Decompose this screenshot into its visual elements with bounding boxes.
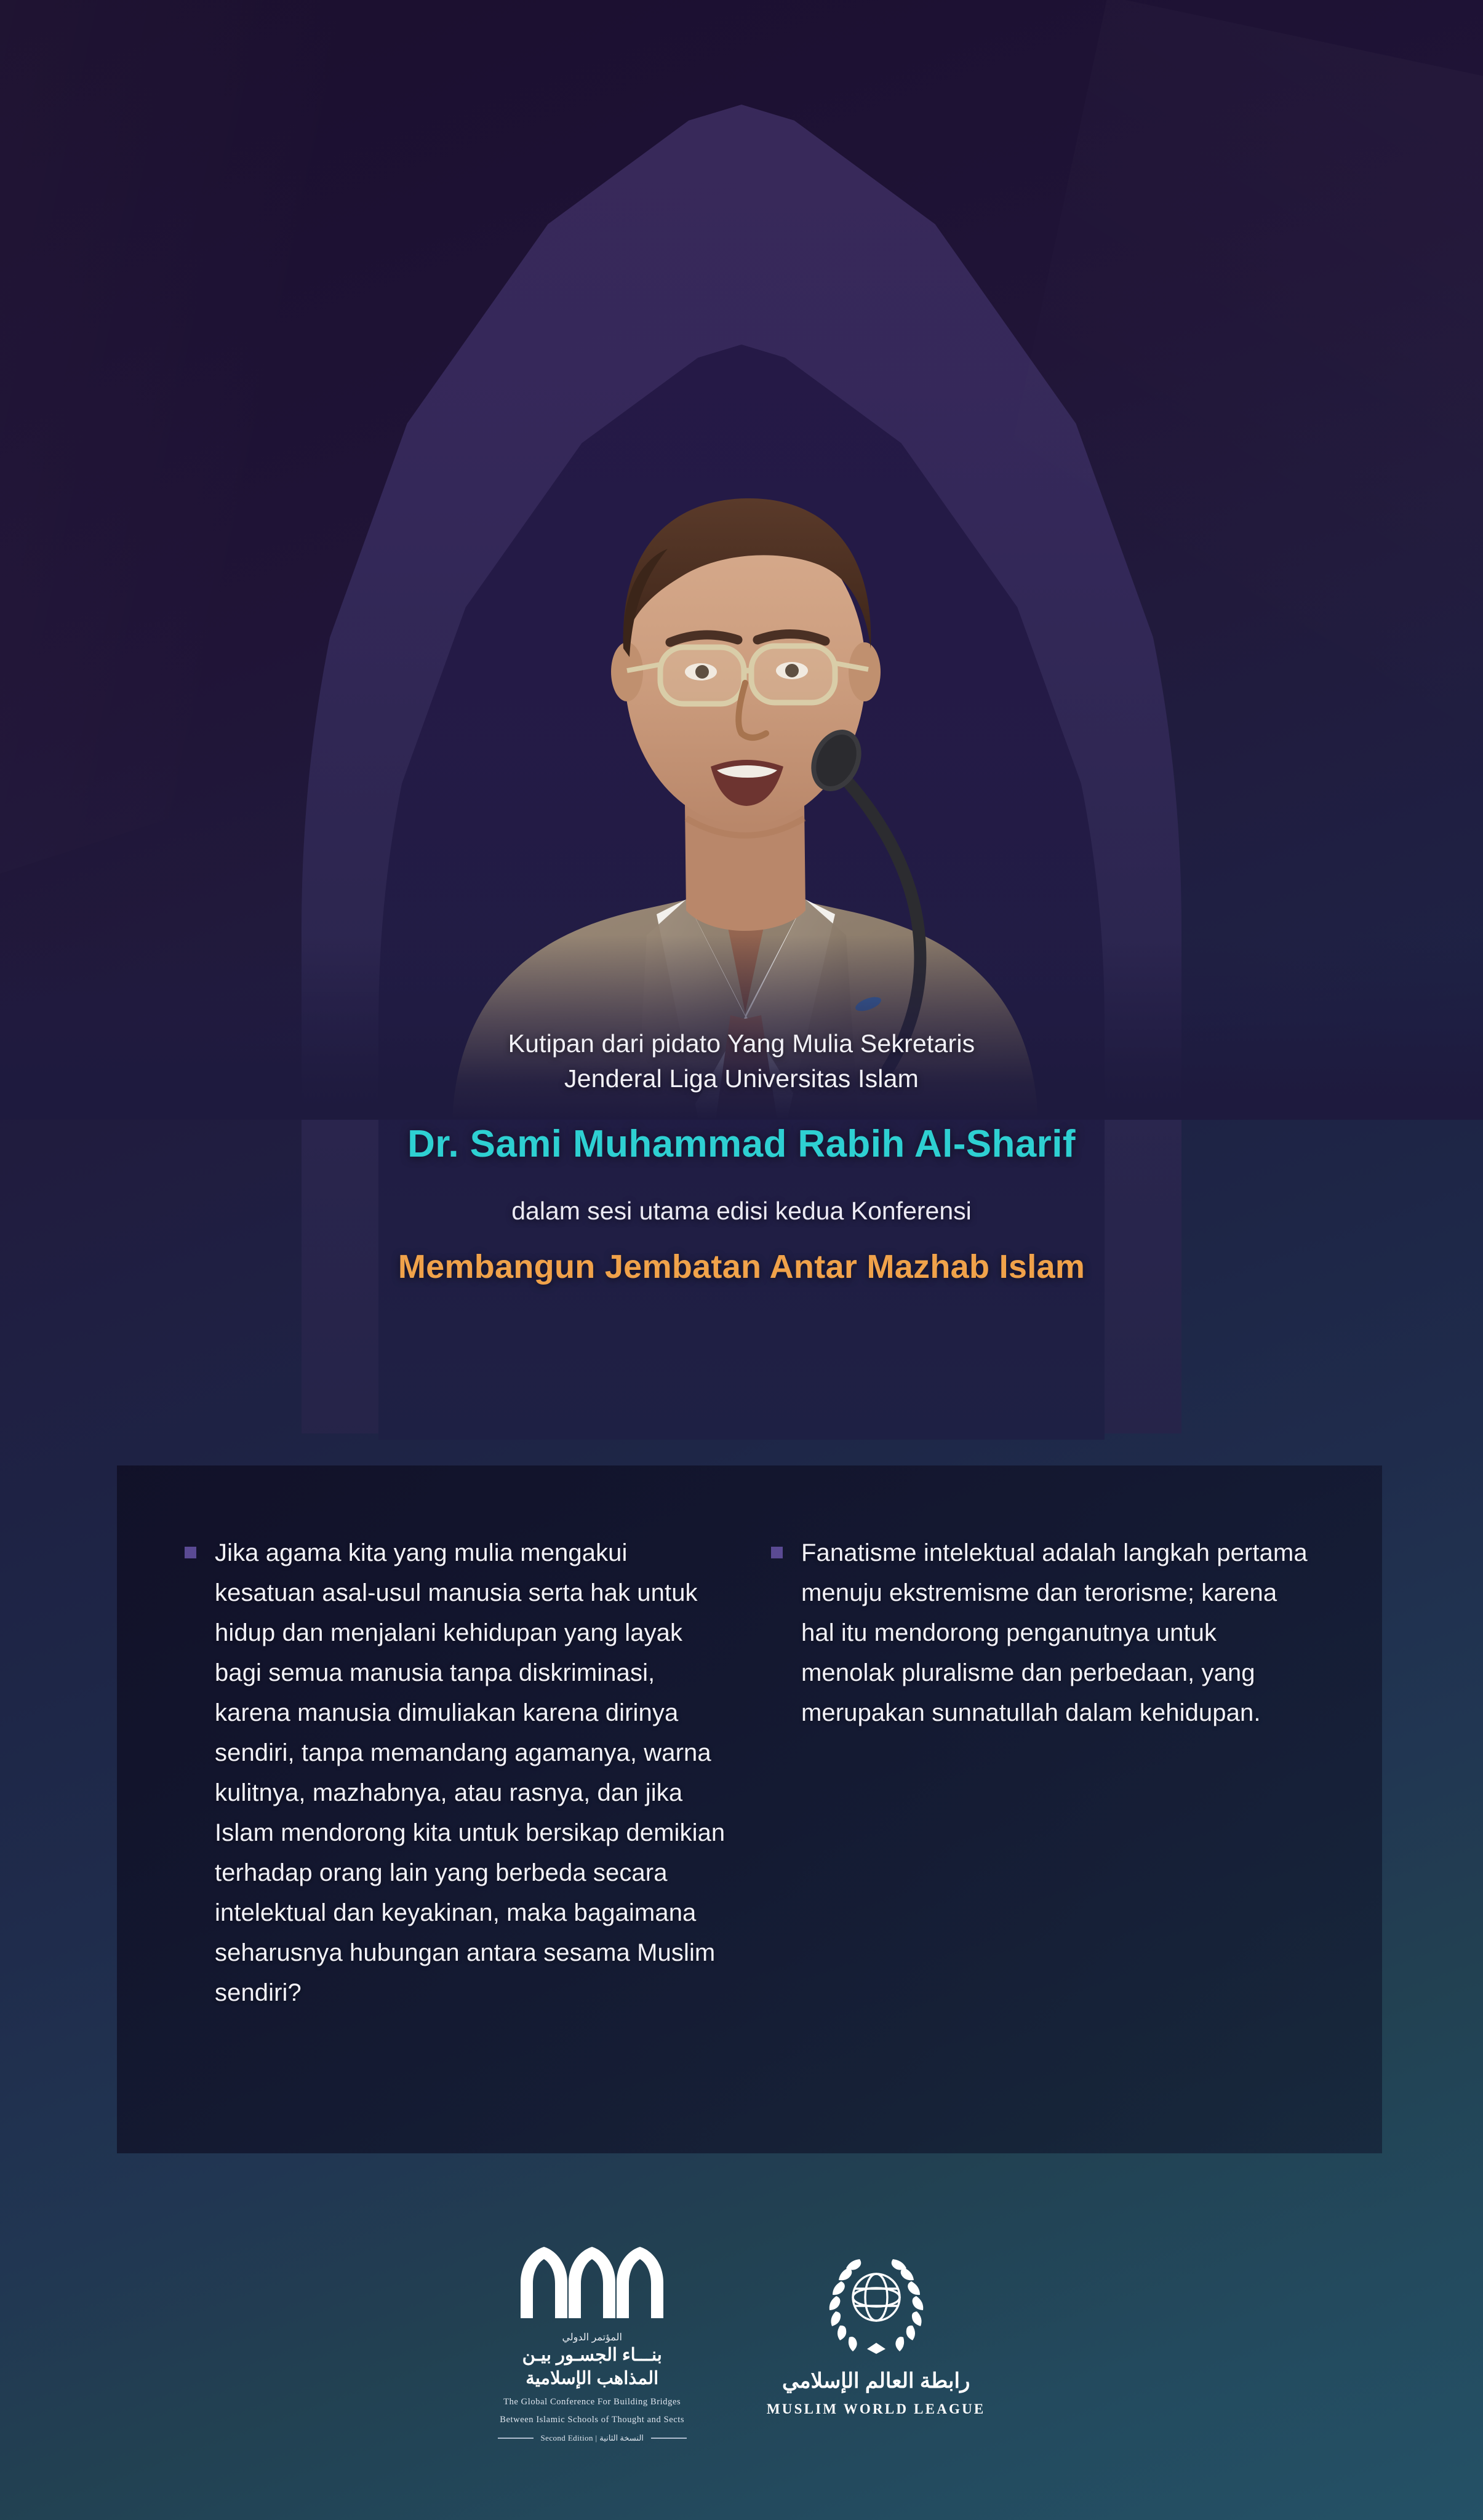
session-line: dalam sesi utama edisi kedua Konferensi xyxy=(0,1197,1483,1226)
globe-wreath-icon xyxy=(819,2246,933,2363)
footer-logos: المؤتمر الدولي بنـــاء الجسـور بيـن المذ… xyxy=(0,2246,1483,2443)
rule-right xyxy=(651,2438,687,2439)
intro-line-2: Jenderal Liga Universitas Islam xyxy=(0,1061,1483,1096)
square-bullet-icon xyxy=(185,1547,196,1558)
conference-edition-rule: Second Edition | النسخة الثانية xyxy=(498,2433,687,2443)
square-bullet-icon xyxy=(771,1547,783,1558)
conference-arabic-small: المؤتمر الدولي xyxy=(562,2331,622,2343)
three-arches-icon xyxy=(518,2246,666,2321)
mwl-arabic: رابطة العالم الإسلامي xyxy=(782,2369,970,2393)
quote-panel: Jika agama kita yang mulia mengakui kesa… xyxy=(117,1465,1382,2153)
speaker-name: Dr. Sami Muhammad Rabih Al-Sharif xyxy=(0,1122,1483,1166)
conference-english-line-2: Between Islamic Schools of Thought and S… xyxy=(500,2414,684,2426)
headline-block: Kutipan dari pidato Yang Mulia Sekretari… xyxy=(0,1026,1483,1286)
intro-line-1: Kutipan dari pidato Yang Mulia Sekretari… xyxy=(0,1026,1483,1061)
conference-edition: Second Edition | النسخة الثانية xyxy=(541,2433,644,2443)
mwl-logo: رابطة العالم الإسلامي MUSLIM WORLD LEAGU… xyxy=(767,2246,986,2417)
quote-text-right: Fanatisme intelektual adalah langkah per… xyxy=(801,1533,1314,1733)
speaker-portrait xyxy=(0,394,1483,1120)
conference-title: Membangun Jembatan Antar Mazhab Islam xyxy=(0,1248,1483,1286)
mwl-english: MUSLIM WORLD LEAGUE xyxy=(767,2401,986,2417)
conference-logo: المؤتمر الدولي بنـــاء الجسـور بيـن المذ… xyxy=(498,2246,687,2443)
rule-left xyxy=(498,2438,534,2439)
poster-canvas: Kutipan dari pidato Yang Mulia Sekretari… xyxy=(0,0,1483,2520)
quote-item-left: Jika agama kita yang mulia mengakui kesa… xyxy=(185,1533,728,2153)
conference-english-line-1: The Global Conference For Building Bridg… xyxy=(503,2396,681,2408)
conference-arabic-line-1: بنـــاء الجسـور بيـن xyxy=(522,2343,662,2367)
conference-arabic-line-2: المذاهب الإسلامية xyxy=(526,2367,658,2390)
quote-text-left: Jika agama kita yang mulia mengakui kesa… xyxy=(215,1533,728,2013)
quote-item-right: Fanatisme intelektual adalah langkah per… xyxy=(771,1533,1314,2153)
